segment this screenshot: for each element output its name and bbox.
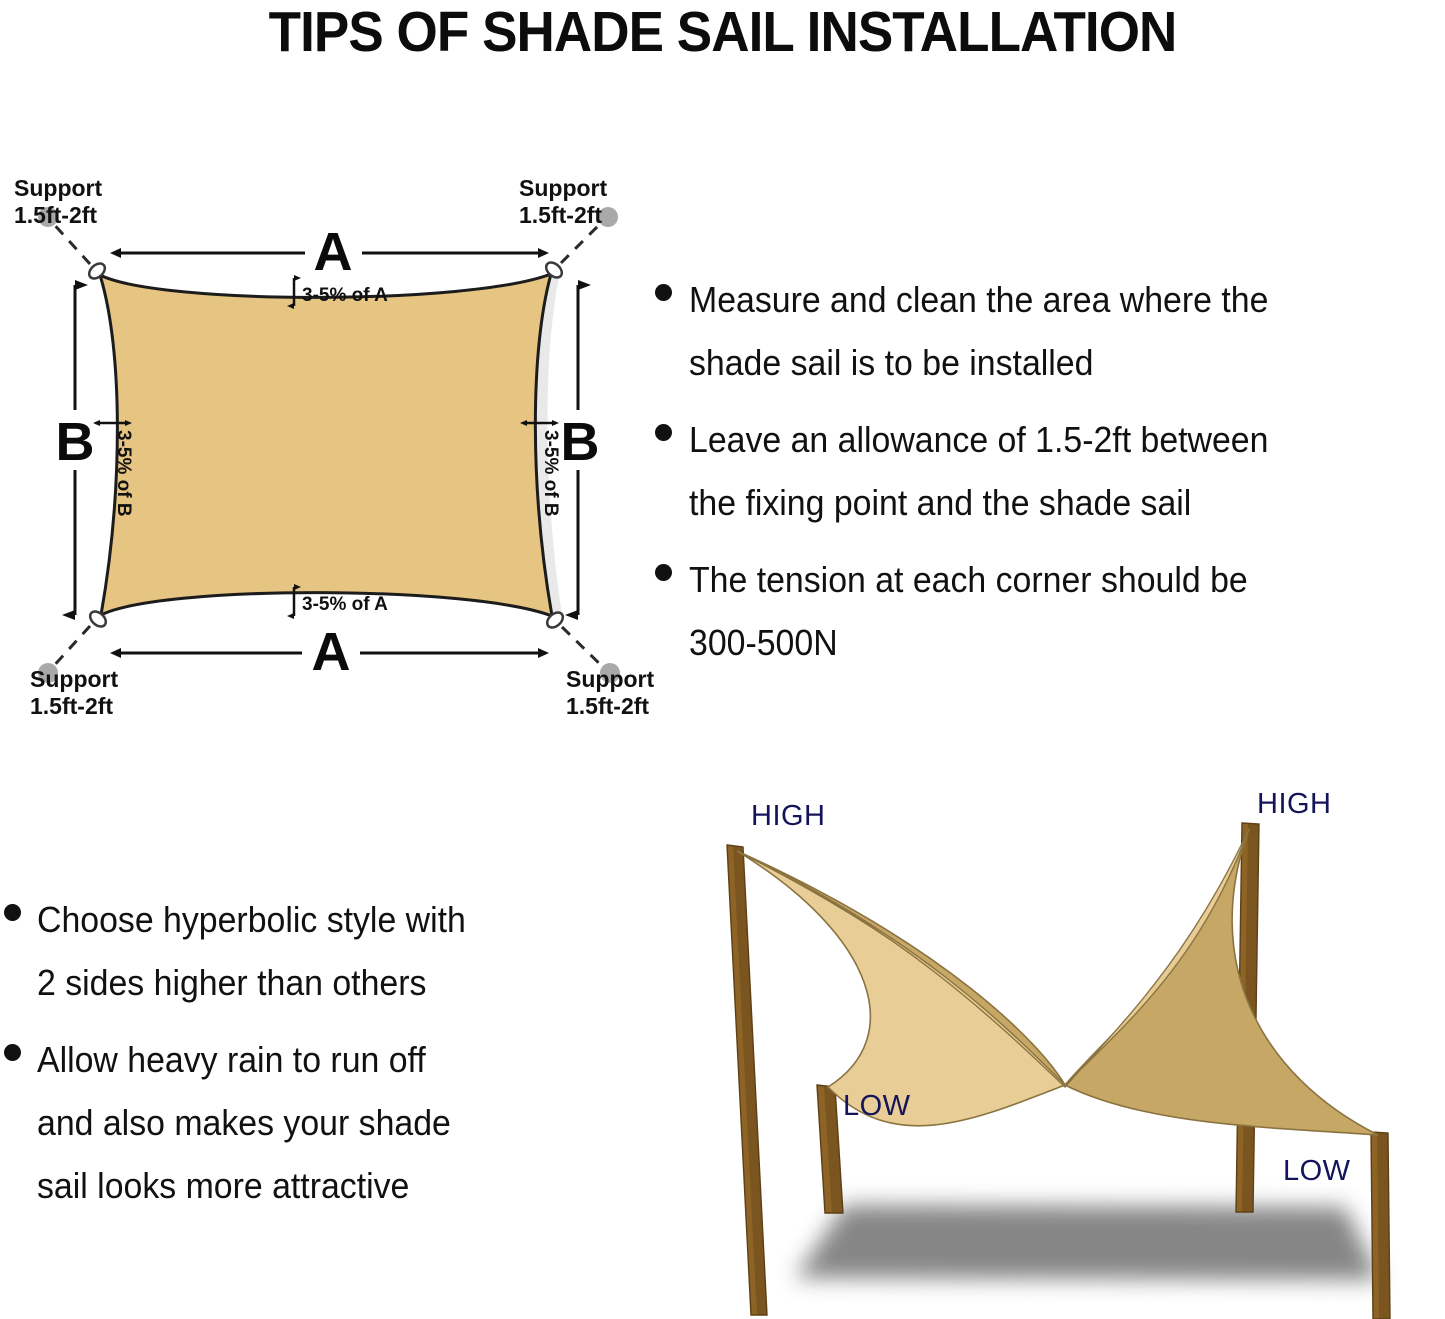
- label-low-right: LOW: [1283, 1155, 1351, 1187]
- shade-sail-shape: [100, 274, 552, 616]
- bullet-dot-icon: [655, 564, 672, 581]
- tip-text: The tension at each corner should be 300…: [689, 548, 1248, 674]
- support-label-bottom-left: Support 1.5ft-2ft: [30, 666, 118, 719]
- hyperbolic-sail-svg: HIGH HIGH LOW LOW: [645, 775, 1445, 1319]
- support-label-line2: 1.5ft-2ft: [566, 693, 649, 719]
- tolerance-label-left: 3-5% of B: [113, 430, 134, 517]
- tolerance-label-right: 3-5% of B: [540, 430, 561, 517]
- dimension-label-A-bottom: A: [312, 622, 351, 682]
- dimension-diagram-svg: Support 1.5ft-2ft Support 1.5ft-2ft Supp…: [0, 160, 660, 730]
- sail-panel-light: [737, 851, 1065, 1126]
- shade-sail-dimension-diagram: Support 1.5ft-2ft Support 1.5ft-2ft Supp…: [0, 160, 660, 730]
- support-label-line1: Support: [30, 666, 118, 692]
- dimension-label-B-right: B: [561, 412, 600, 472]
- post-low-right: [1371, 1132, 1390, 1319]
- list-item: Leave an allowance of 1.5-2ft between th…: [655, 408, 1445, 534]
- support-label-bottom-right: Support 1.5ft-2ft: [566, 666, 654, 719]
- ground-shadow: [795, 1205, 1380, 1280]
- post-high-left: [727, 845, 767, 1315]
- dimension-label-A-top: A: [314, 222, 353, 282]
- support-label-line2: 1.5ft-2ft: [30, 693, 113, 719]
- label-high-left: HIGH: [751, 800, 826, 832]
- tip-text: Choose hyperbolic style with 2 sides hig…: [37, 888, 466, 1014]
- support-label-line1: Support: [519, 175, 607, 201]
- bullet-dot-icon: [655, 424, 672, 441]
- tip-text: Allow heavy rain to run off and also mak…: [37, 1028, 451, 1217]
- tips-list-top: Measure and clean the area where the sha…: [655, 268, 1445, 688]
- infographic-page: TIPS OF SHADE SAIL INSTALLATION: [0, 0, 1445, 1319]
- tolerance-label-top: 3-5% of A: [302, 285, 388, 306]
- post-low-left: [817, 1085, 843, 1213]
- label-high-right: HIGH: [1257, 788, 1332, 820]
- tip-text: Leave an allowance of 1.5-2ft between th…: [689, 408, 1268, 534]
- bullet-dot-icon: [4, 1044, 21, 1061]
- bullet-dot-icon: [655, 284, 672, 301]
- support-label-top-right: Support 1.5ft-2ft: [519, 175, 607, 228]
- support-label-line2: 1.5ft-2ft: [14, 202, 97, 228]
- list-item: Allow heavy rain to run off and also mak…: [4, 1028, 629, 1217]
- support-label-line1: Support: [566, 666, 654, 692]
- bullet-dot-icon: [4, 904, 21, 921]
- support-label-line1: Support: [14, 175, 102, 201]
- tip-text: Measure and clean the area where the sha…: [689, 268, 1268, 394]
- support-label-line2: 1.5ft-2ft: [519, 202, 602, 228]
- dimension-label-B-left: B: [56, 412, 95, 472]
- list-item: Choose hyperbolic style with 2 sides hig…: [4, 888, 629, 1014]
- list-item: Measure and clean the area where the sha…: [655, 268, 1445, 394]
- label-low-left: LOW: [843, 1090, 911, 1122]
- tips-list-bottom: Choose hyperbolic style with 2 sides hig…: [4, 888, 629, 1231]
- page-title: TIPS OF SHADE SAIL INSTALLATION: [51, 0, 1395, 64]
- list-item: The tension at each corner should be 300…: [655, 548, 1445, 674]
- tolerance-label-bottom: 3-5% of A: [302, 594, 388, 615]
- hyperbolic-sail-illustration: HIGH HIGH LOW LOW: [645, 775, 1445, 1319]
- support-label-top-left: Support 1.5ft-2ft: [14, 175, 102, 228]
